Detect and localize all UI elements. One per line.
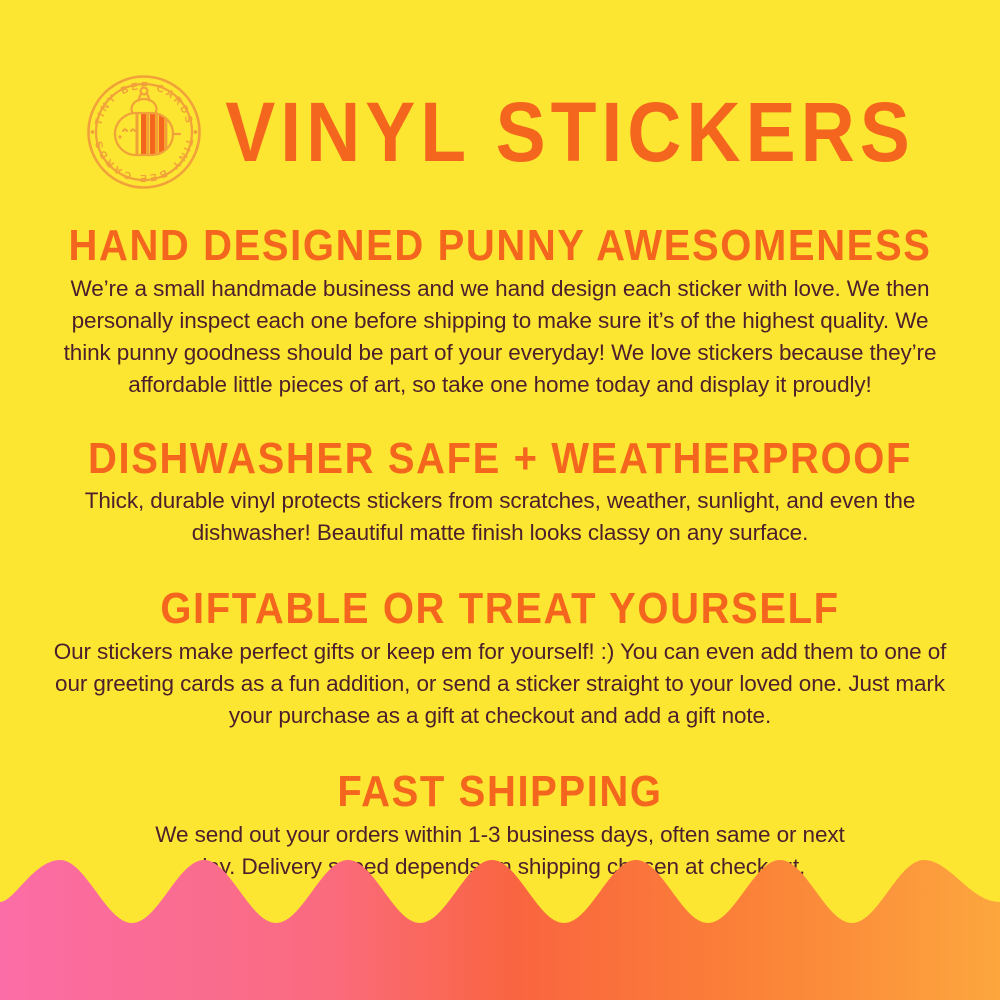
section-body: We’re a small handmade business and we h… — [48, 273, 953, 401]
section-hand-designed: HAND DESIGNED PUNNY AWESOMENESS We’re a … — [0, 222, 1000, 401]
section-giftable: GIFTABLE OR TREAT YOURSELF Our stickers … — [0, 585, 1000, 732]
section-heading: FAST SHIPPING — [0, 768, 1000, 816]
section-heading: HAND DESIGNED PUNNY AWESOMENESS — [0, 222, 1000, 270]
section-body: Thick, durable vinyl protects stickers f… — [60, 485, 940, 549]
content-sections: HAND DESIGNED PUNNY AWESOMENESS We’re a … — [0, 222, 1000, 883]
section-heading: GIFTABLE OR TREAT YOURSELF — [0, 585, 1000, 633]
section-body: Our stickers make perfect gifts or keep … — [48, 636, 953, 732]
wavy-gradient-border — [0, 840, 1000, 1000]
tiny-bee-cards-logo-icon: TINY BEE CARDS TINY BEE CARDS — [85, 73, 203, 191]
wave-shape — [0, 860, 1000, 1000]
page-title: VINYL STICKERS — [225, 90, 915, 174]
header: TINY BEE CARDS TINY BEE CARDS — [0, 72, 1000, 192]
section-heading: DISHWASHER SAFE + WEATHERPROOF — [0, 435, 1000, 483]
sticker-info-graphic: TINY BEE CARDS TINY BEE CARDS — [0, 0, 1000, 1000]
section-dishwasher-safe: DISHWASHER SAFE + WEATHERPROOF Thick, du… — [0, 435, 1000, 550]
